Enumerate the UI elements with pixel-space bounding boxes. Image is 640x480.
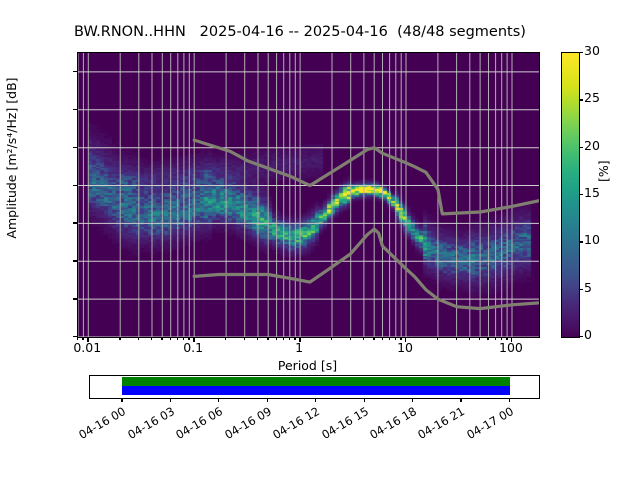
ppsd-axes[interactable] bbox=[77, 52, 540, 338]
timeline-band-psd-coverage bbox=[122, 386, 509, 395]
timeline-tick-mark bbox=[364, 398, 365, 402]
y-tick-mark bbox=[73, 147, 77, 148]
x-tick-label: 0.1 bbox=[158, 340, 228, 355]
timeline-tick-mark bbox=[460, 398, 461, 402]
colorbar-tick-label: 10 bbox=[584, 232, 600, 247]
colorbar bbox=[561, 52, 580, 338]
x-tick-label: 10 bbox=[370, 340, 440, 355]
timeline-tick-mark bbox=[509, 398, 510, 402]
x-tick-mark-minor bbox=[244, 337, 245, 340]
timeline-tick-mark bbox=[170, 398, 171, 402]
colorbar-tick-mark bbox=[579, 241, 583, 242]
timeline-tick-mark bbox=[267, 398, 268, 402]
x-tick-label: 100 bbox=[476, 340, 546, 355]
colorbar-tick-mark bbox=[579, 52, 583, 53]
x-tick-mark-minor bbox=[350, 337, 351, 340]
x-tick-mark-minor bbox=[469, 337, 470, 340]
y-tick-mark bbox=[73, 298, 77, 299]
x-tick-mark-minor bbox=[257, 337, 258, 340]
colorbar-tick-label: 25 bbox=[584, 90, 600, 105]
colorbar-tick-mark bbox=[579, 336, 583, 337]
x-tick-label: 1 bbox=[264, 340, 334, 355]
colorbar-tick-label: 15 bbox=[584, 185, 600, 200]
colorbar-tick-mark bbox=[579, 289, 583, 290]
timeline-tick-mark bbox=[412, 398, 413, 402]
x-tick-mark-minor bbox=[363, 337, 364, 340]
x-tick-label: 0.01 bbox=[52, 340, 122, 355]
coverage-timeline[interactable] bbox=[89, 375, 540, 399]
timeline-tick-mark bbox=[315, 398, 316, 402]
y-tick-mark bbox=[73, 109, 77, 110]
ppsd-figure: BW.RNON..HHN 2025-04-16 -- 2025-04-16 (4… bbox=[0, 0, 640, 480]
y-axis-label: Amplitude [m²/s⁴/Hz] [dB] bbox=[4, 8, 19, 308]
colorbar-tick-label: 0 bbox=[584, 327, 592, 342]
timeline-band-data-coverage bbox=[122, 377, 509, 386]
y-tick-mark bbox=[73, 185, 77, 186]
timeline-tick-mark bbox=[121, 398, 122, 402]
x-tick-mark-minor bbox=[456, 337, 457, 340]
colorbar-tick-mark bbox=[579, 147, 583, 148]
y-tick-mark bbox=[73, 260, 77, 261]
colorbar-label: [%] bbox=[596, 160, 611, 182]
colorbar-tick-label: 20 bbox=[584, 138, 600, 153]
x-tick-mark-minor bbox=[138, 337, 139, 340]
x-tick-mark-minor bbox=[151, 337, 152, 340]
x-axis-label: Period [s] bbox=[77, 358, 538, 373]
timeline-tick-mark bbox=[218, 398, 219, 402]
colorbar-tick-mark bbox=[579, 194, 583, 195]
colorbar-tick-mark bbox=[579, 99, 583, 100]
page-title: BW.RNON..HHN 2025-04-16 -- 2025-04-16 (4… bbox=[0, 24, 600, 40]
y-tick-mark bbox=[73, 222, 77, 223]
colorbar-tick-label: 5 bbox=[584, 280, 592, 295]
noise-model-lines bbox=[78, 53, 539, 337]
colorbar-tick-label: 30 bbox=[584, 43, 600, 58]
y-tick-mark bbox=[73, 71, 77, 72]
